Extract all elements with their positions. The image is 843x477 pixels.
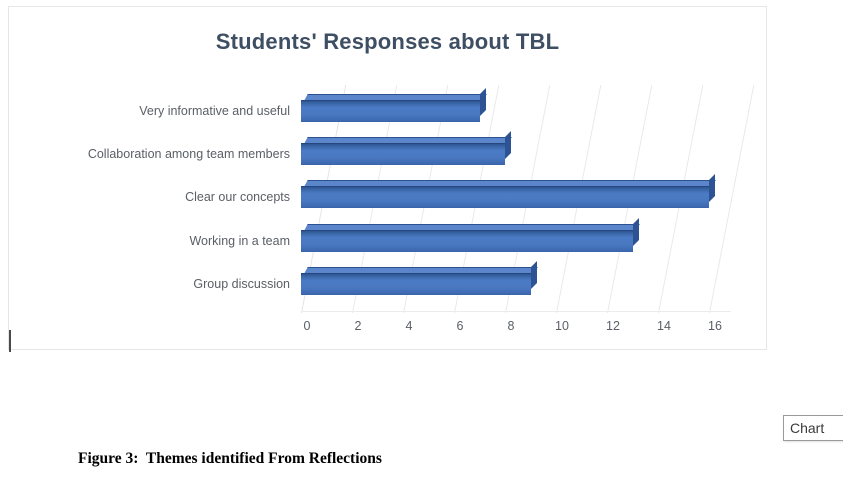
bar[interactable]: [301, 143, 505, 165]
bar-front-face: [301, 100, 480, 122]
category-label: Clear our concepts: [185, 190, 290, 204]
bar-side-face: [505, 131, 511, 159]
value-tick-label: 4: [397, 319, 421, 333]
bar[interactable]: [301, 186, 709, 208]
bar-front-face: [301, 230, 633, 252]
plot-area: Very informative and usefulCollaboration…: [9, 7, 766, 349]
bar-side-face: [633, 218, 639, 246]
bar-front-face: [301, 273, 531, 295]
bar[interactable]: [301, 230, 633, 252]
value-tick-label: 14: [652, 319, 676, 333]
chart-callout-box[interactable]: Chart: [783, 415, 843, 441]
category-label: Working in a team: [189, 234, 290, 248]
value-tick-label: 16: [703, 319, 727, 333]
value-tick-label: 2: [346, 319, 370, 333]
text-caret: [9, 330, 11, 352]
bar[interactable]: [301, 273, 531, 295]
bar[interactable]: [301, 100, 480, 122]
value-tick-label: 0: [295, 319, 319, 333]
category-label: Very informative and useful: [139, 104, 290, 118]
chart-container[interactable]: Students' Responses about TBL Very infor…: [8, 6, 767, 350]
gridline: [709, 85, 754, 313]
value-tick-label: 8: [499, 319, 523, 333]
bar-side-face: [531, 261, 537, 289]
category-label: Group discussion: [193, 277, 290, 291]
value-tick-label: 10: [550, 319, 574, 333]
category-axis-line: [301, 311, 731, 312]
value-tick-label: 6: [448, 319, 472, 333]
category-label: Collaboration among team members: [88, 147, 290, 161]
value-tick-label: 12: [601, 319, 625, 333]
bar-front-face: [301, 143, 505, 165]
bar-front-face: [301, 186, 709, 208]
bar-side-face: [480, 88, 486, 116]
figure-caption: Figure 3: Themes identified From Reflect…: [78, 450, 382, 468]
bar-side-face: [709, 174, 715, 202]
